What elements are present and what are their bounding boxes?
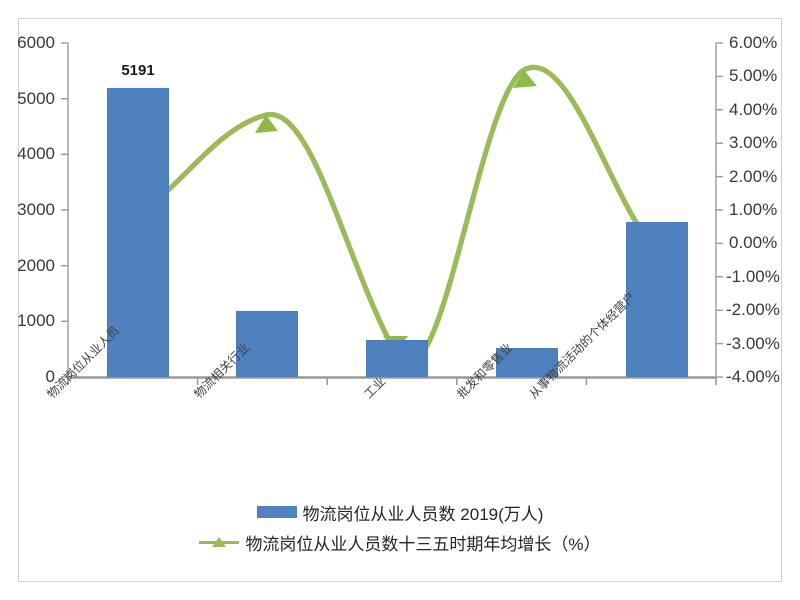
right-axis-tick-3: 3.00% — [729, 134, 777, 151]
right-axis-tick-1: 1.00% — [729, 201, 777, 218]
left-axis-tick-6000: 6000 — [0, 34, 55, 51]
legend-bar-swatch-icon — [257, 506, 297, 518]
category-axis — [68, 377, 716, 385]
right-axis-tick-neg4: -4.00% — [726, 368, 780, 385]
right-axis-tick-4: 4.00% — [729, 101, 777, 118]
right-axis — [716, 43, 723, 377]
right-axis-tick-2: 2.00% — [729, 168, 777, 185]
right-axis-tick-neg3: -3.00% — [726, 335, 780, 352]
line-series-markers — [138, 70, 650, 352]
bar-data-label-1: 5191 — [101, 62, 175, 79]
legend-entry-bar-series[interactable]: 物流岗位从业人员数 2019(万人) — [0, 497, 800, 527]
left-axis-tick-0: 0 — [0, 368, 55, 385]
chart-plot-area: 6000 5000 4000 3000 2000 1000 0 6.00% 5.… — [0, 0, 800, 600]
right-axis-tick-neg2: -2.00% — [726, 301, 780, 318]
legend-triangle-marker-icon — [212, 537, 226, 547]
left-axis-tick-1000: 1000 — [0, 312, 55, 329]
left-axis-tick-3000: 3000 — [0, 201, 55, 218]
right-axis-tick-5: 5.00% — [729, 67, 777, 84]
chart-legend: 物流岗位从业人员数 2019(万人) 物流岗位从业人员数十三五时期年均增长（%） — [0, 497, 800, 557]
legend-label-line-series: 物流岗位从业人员数十三五时期年均增长（%） — [245, 530, 600, 555]
legend-entry-line-series[interactable]: 物流岗位从业人员数十三五时期年均增长（%） — [0, 527, 800, 557]
legend-line-swatch-icon — [199, 535, 239, 549]
right-axis-tick-6: 6.00% — [729, 34, 777, 51]
left-axis-tick-4000: 4000 — [0, 145, 55, 162]
line-series-path — [138, 67, 650, 363]
bar-工业[interactable] — [366, 340, 428, 377]
right-axis-tick-neg1: -1.00% — [726, 268, 780, 285]
legend-label-bar-series: 物流岗位从业人员数 2019(万人) — [303, 500, 544, 525]
left-axis-tick-2000: 2000 — [0, 257, 55, 274]
left-axis-tick-5000: 5000 — [0, 90, 55, 107]
left-axis — [61, 43, 68, 377]
right-axis-tick-0: 0.00% — [729, 234, 777, 251]
